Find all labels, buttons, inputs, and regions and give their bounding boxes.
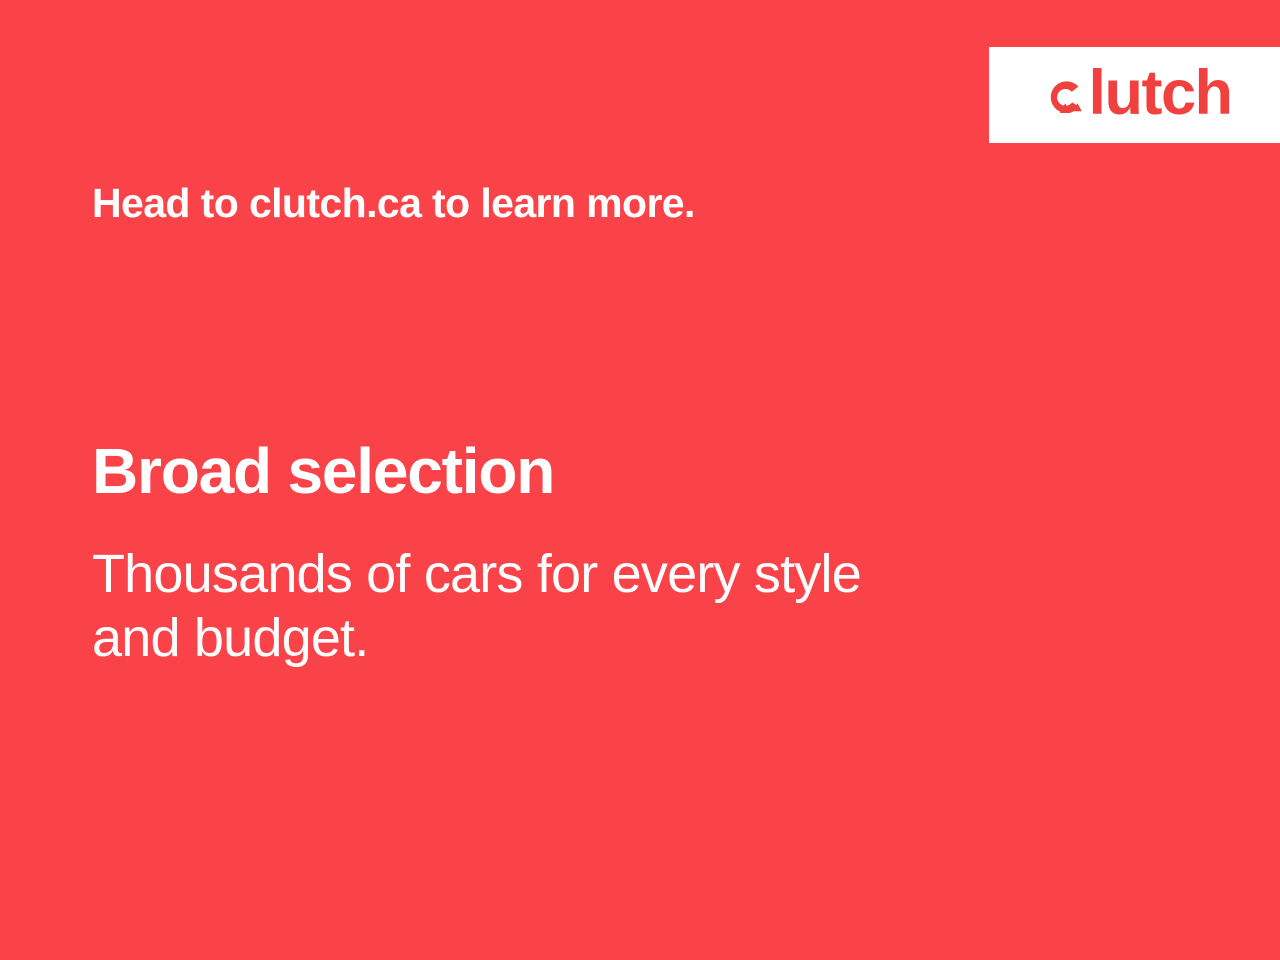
cta-eyebrow-text: Head to clutch.ca to learn more. (92, 180, 695, 227)
slide-canvas: lutch Head to clutch.ca to learn more. B… (0, 0, 1280, 960)
slide-subcopy: Thousands of cars for every style and bu… (92, 543, 1052, 670)
slide-headline: Broad selection (92, 438, 554, 505)
subcopy-line-2: and budget. (92, 607, 1052, 671)
clutch-wordmark: lutch (1089, 62, 1232, 125)
clutch-c-mark-icon (1044, 76, 1088, 120)
clutch-logo-badge[interactable]: lutch (989, 47, 1280, 143)
subcopy-line-1: Thousands of cars for every style (92, 543, 1052, 607)
clutch-logo-lockup: lutch (1038, 47, 1232, 143)
